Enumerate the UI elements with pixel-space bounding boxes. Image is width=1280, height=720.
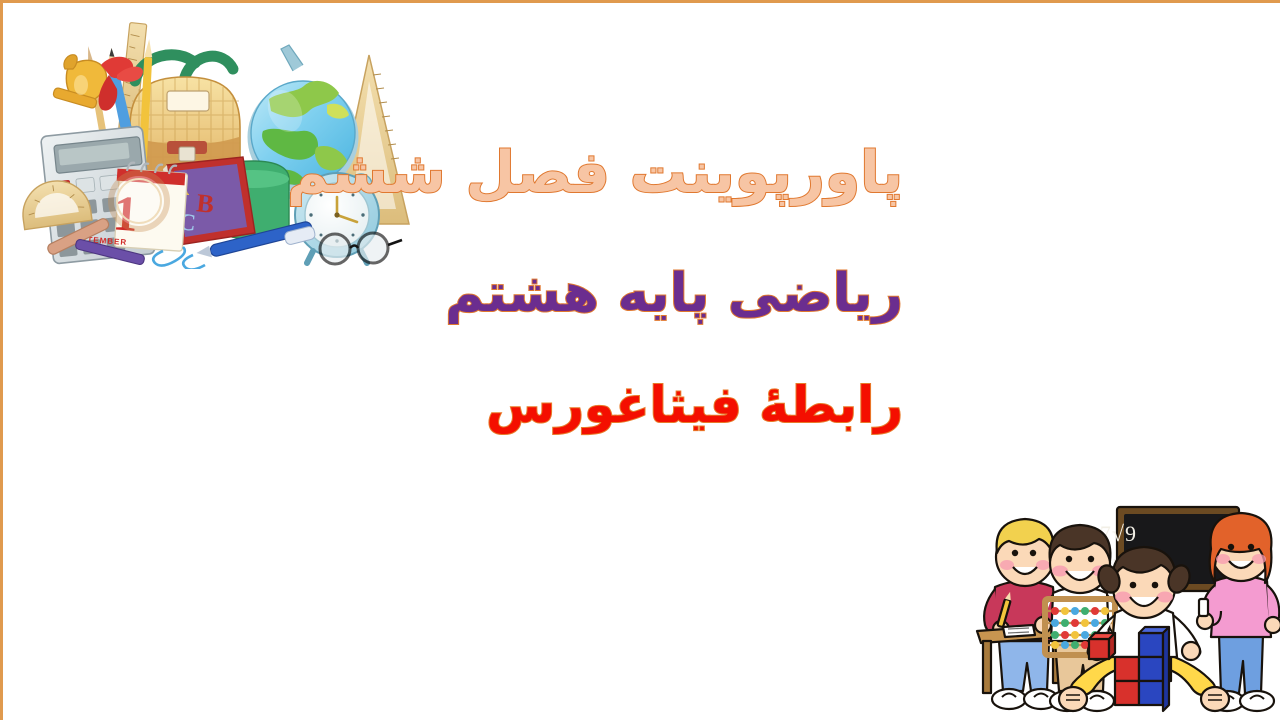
title-line-3: رابطهٔ فیثاغورس bbox=[409, 378, 903, 432]
title-line-2: ریاضی پایه هشتم bbox=[405, 265, 903, 322]
children-classroom-clipart: .ol { stroke:#18120c; stroke-width:2.2; … bbox=[963, 495, 1280, 720]
red-block-icon bbox=[1089, 633, 1115, 659]
slide-canvas: A B C 1 SEPTEMBER bbox=[0, 0, 1280, 720]
slide-title-block: پاورپوینت فصل ششم ریاضی پایه هشتم رابطهٔ… bbox=[363, 143, 903, 432]
title-line-1: پاورپوینت فصل ششم bbox=[363, 143, 903, 205]
svg-text:B: B bbox=[195, 188, 215, 219]
